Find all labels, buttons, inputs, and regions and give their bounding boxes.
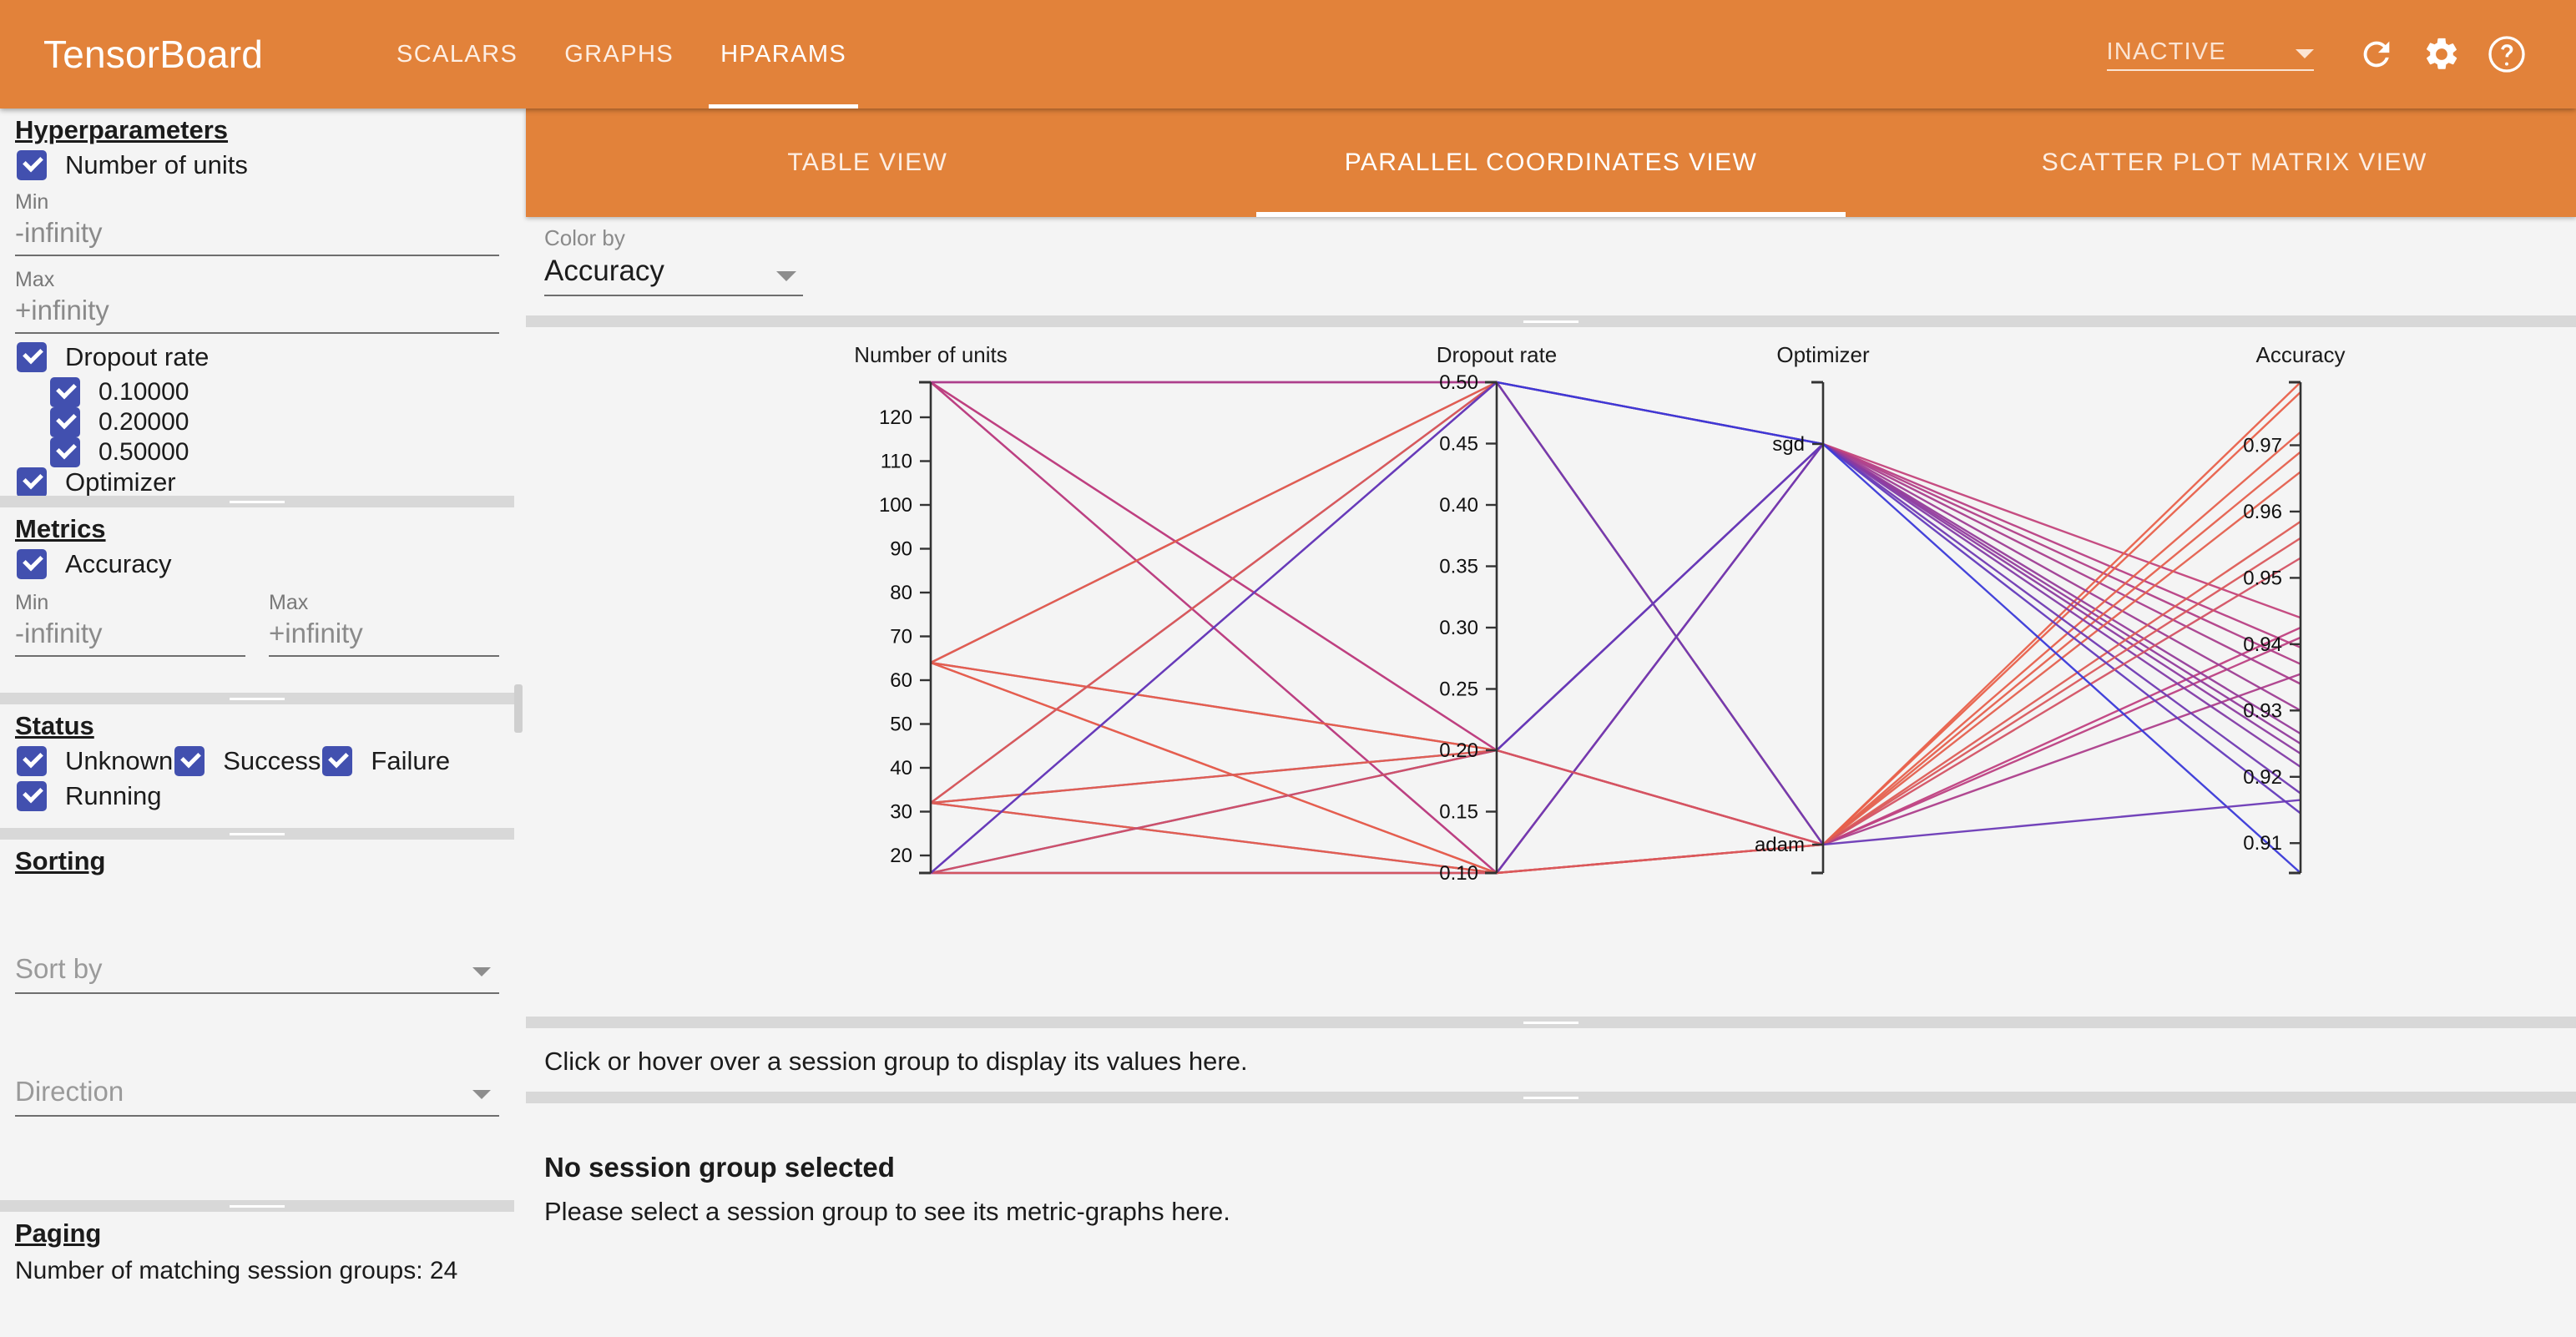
sidebar: Hyperparameters Number of units Min -inf… [0,108,514,1337]
color-by-label: Color by [544,225,803,251]
color-by-control: Color by Accuracy [544,225,803,296]
axis-tick-label: 0.40 [1439,494,1478,517]
axis-tick-label: 0.20 [1439,739,1478,762]
checkbox-status-running[interactable] [17,781,47,811]
sort-by-select[interactable]: Sort by [15,953,499,994]
axis-tick-label: 50 [890,714,912,736]
axis-tick-label: 0.97 [2243,434,2282,457]
sidebar-resize-handle[interactable] [514,684,523,733]
sidebar-section-paging: Paging Number of matching session groups… [0,1212,514,1337]
checkbox-status-unknown[interactable] [17,746,47,776]
metrics-heading: Metrics [0,507,514,544]
session-line[interactable] [931,538,2301,873]
tab-parallel-coordinates-view[interactable]: PARALLEL COORDINATES VIEW [1210,108,1893,217]
checkbox-dropout-rate[interactable] [17,342,47,372]
axis-tick-label: 90 [890,538,912,561]
sidebar-section-hyperparameters: Hyperparameters Number of units Min -inf… [0,108,514,496]
number-of-units-min-field[interactable]: Min -infinity [0,190,514,256]
main-content: TABLE VIEW PARALLEL COORDINATES VIEW SCA… [526,108,2576,1337]
hparam-value-row[interactable]: 0.50000 [0,437,514,467]
checkbox-status-success[interactable] [174,746,205,776]
hparam-label: Number of units [65,150,248,180]
tab-scatter-plot-matrix-view[interactable]: SCATTER PLOT MATRIX VIEW [1892,108,2576,217]
direction-select[interactable]: Direction [15,1076,499,1117]
axis-tick-label: 80 [890,582,912,604]
parallel-coordinates-chart[interactable]: Number of units1201101009080706050403020… [526,327,2576,1017]
gear-icon [2422,35,2461,73]
axis-tick-label: 0.30 [1439,617,1478,639]
min-input[interactable]: -infinity [15,615,245,657]
axis-tick-label: sgd [1772,433,1805,456]
status-label: Running [65,781,161,811]
status-label: Unknown [65,746,173,776]
nav-item-hparams[interactable]: HPARAMS [697,0,870,108]
axis-tick-label: 0.35 [1439,556,1478,578]
axis-title: Accuracy [2256,342,2346,367]
view-tabs: TABLE VIEW PARALLEL COORDINATES VIEW SCA… [526,108,2576,217]
axis-tick-label: adam [1755,834,1805,856]
axis-tick-label: 100 [879,494,912,517]
axis-tick-label: 20 [890,845,912,867]
sidebar-splitter[interactable] [0,693,514,704]
max-input[interactable]: +infinity [269,615,499,657]
top-bar-actions: INACTIVE [2107,28,2539,80]
axis-tick-label: 0.93 [2243,699,2282,722]
hparam-dropout-rate-row[interactable]: Dropout rate [0,337,514,377]
color-by-select[interactable]: Accuracy [544,255,803,296]
tab-table-view[interactable]: TABLE VIEW [526,108,1210,217]
chevron-down-icon [472,1090,491,1099]
direction-placeholder: Direction [15,1076,124,1107]
hparam-value-label: 0.50000 [98,438,189,467]
status-success-row[interactable]: Success [174,741,322,781]
top-app-bar: TensorBoard SCALARS GRAPHS HPARAMS INACT… [0,0,2576,108]
session-line[interactable] [931,382,2301,845]
hparam-number-of-units-row[interactable]: Number of units [0,145,514,185]
app-brand: TensorBoard [43,32,263,77]
axis-tick-label: 120 [879,406,912,429]
sorting-heading: Sorting [0,840,514,876]
axis-title: Dropout rate [1437,342,1558,367]
color-by-value: Accuracy [544,255,664,287]
status-label: Success [223,746,321,776]
settings-button[interactable] [2416,28,2467,80]
hover-hint-text: Click or hover over a session group to d… [526,1028,2576,1077]
axis-tick-label: 0.92 [2243,766,2282,789]
max-label: Max [269,591,499,615]
axis-tick-label: 0.94 [2243,633,2282,656]
axis-tick-label: 70 [890,626,912,648]
axis-tick-label: 0.45 [1439,433,1478,456]
max-label: Max [15,268,499,292]
axis-tick-label: 110 [881,451,912,473]
help-button[interactable] [2481,28,2533,80]
session-line[interactable] [931,444,2301,873]
metric-accuracy-row[interactable]: Accuracy [0,544,514,584]
status-unknown-row[interactable]: Unknown [17,741,174,781]
session-line[interactable] [931,392,2301,845]
session-line[interactable] [931,444,2301,873]
session-line[interactable] [931,472,2301,845]
accuracy-min-field[interactable]: Min -infinity [15,591,245,657]
axis-title: Optimizer [1776,342,1870,367]
session-line[interactable] [931,382,2301,845]
matching-session-groups-count: Number of matching session groups: 24 [0,1249,514,1285]
axis-tick-label: 30 [890,801,912,824]
help-circle-icon [2486,33,2528,75]
min-label: Min [15,190,499,214]
axis-tick-label: 0.95 [2243,567,2282,589]
checkbox-dropout-0-1[interactable] [50,377,80,407]
accuracy-max-field[interactable]: Max +infinity [269,591,499,657]
axis-title: Number of units [854,342,1008,367]
paging-heading: Paging [0,1212,514,1249]
min-input[interactable]: -infinity [15,214,499,256]
status-label: Failure [371,746,450,776]
chevron-down-icon [472,967,491,976]
color-by-bar: Color by Accuracy [526,217,2576,315]
session-line[interactable] [931,444,2301,803]
nav-item-graphs[interactable]: GRAPHS [541,0,697,108]
status-running-row[interactable]: Running [17,781,163,816]
session-line[interactable] [931,382,2301,845]
max-input[interactable]: +infinity [15,292,499,334]
hparam-value-row[interactable]: 0.10000 [0,377,514,407]
top-nav: SCALARS GRAPHS HPARAMS [373,0,870,108]
session-panel-splitter[interactable] [526,1092,2576,1103]
hparam-label: Dropout rate [65,342,209,372]
min-label: Min [15,591,245,615]
checkbox-dropout-0-5[interactable] [50,437,80,467]
reload-icon [2357,35,2396,73]
parallel-coordinates-svg[interactable]: Number of units1201101009080706050403020… [526,327,2576,1017]
session-group-panel: No session group selected Please select … [526,1103,2576,1295]
checkbox-optimizer[interactable] [17,467,47,497]
status-checkbox-group: Unknown Success Failure Running [0,741,514,816]
session-panel-body: Please select a session group to see its… [526,1183,2576,1227]
axis-tick-label: 0.96 [2243,501,2282,523]
chart-bottom-splitter[interactable] [526,1017,2576,1028]
sidebar-section-metrics: Metrics Accuracy Min -infinity Max +infi… [0,507,514,693]
metric-label: Accuracy [65,549,171,579]
checkbox-accuracy[interactable] [17,549,47,579]
sort-by-placeholder: Sort by [15,953,103,984]
chart-top-splitter[interactable] [526,315,2576,327]
hparam-value-row[interactable]: 0.20000 [0,407,514,437]
run-status-value: INACTIVE [2107,38,2270,66]
checkbox-number-of-units[interactable] [17,150,47,180]
reload-button[interactable] [2351,28,2402,80]
status-failure-row[interactable]: Failure [322,741,452,781]
sidebar-section-status: Status Unknown Success Failure Running [0,704,514,828]
hyperparameters-heading: Hyperparameters [0,108,514,145]
chevron-down-icon [2296,49,2314,58]
checkbox-status-failure[interactable] [322,746,352,776]
run-status-dropdown[interactable]: INACTIVE [2107,38,2314,71]
nav-item-scalars[interactable]: SCALARS [373,0,541,108]
session-line[interactable] [931,382,2301,845]
number-of-units-max-field[interactable]: Max +infinity [0,268,514,334]
axis-tick-label: 60 [890,669,912,692]
session-panel-heading: No session group selected [526,1103,2576,1183]
hparam-value-label: 0.10000 [98,378,189,406]
axis-tick-label: 0.50 [1439,371,1478,394]
axis-tick-label: 0.91 [2243,832,2282,855]
axis-tick-label: 40 [890,757,912,779]
session-values-panel: Click or hover over a session group to d… [526,1028,2576,1092]
sidebar-splitter[interactable] [0,828,514,840]
axis-tick-label: 0.25 [1439,679,1478,701]
hparam-label: Optimizer [65,467,176,497]
hparam-optimizer-row[interactable]: Optimizer [0,467,514,497]
sidebar-splitter[interactable] [0,496,514,507]
session-line[interactable] [931,444,2301,873]
status-heading: Status [0,704,514,741]
hparam-value-label: 0.20000 [98,408,189,436]
axis-tick-label: 0.15 [1439,801,1478,824]
chevron-down-icon [776,271,796,281]
session-line[interactable] [931,444,2301,873]
underline [2107,69,2314,71]
axis-tick-label: 0.10 [1439,862,1478,885]
checkbox-dropout-0-2[interactable] [50,407,80,437]
session-line[interactable] [931,444,2301,750]
sidebar-splitter[interactable] [0,1200,514,1212]
accuracy-range-fields: Min -infinity Max +infinity [0,591,514,657]
